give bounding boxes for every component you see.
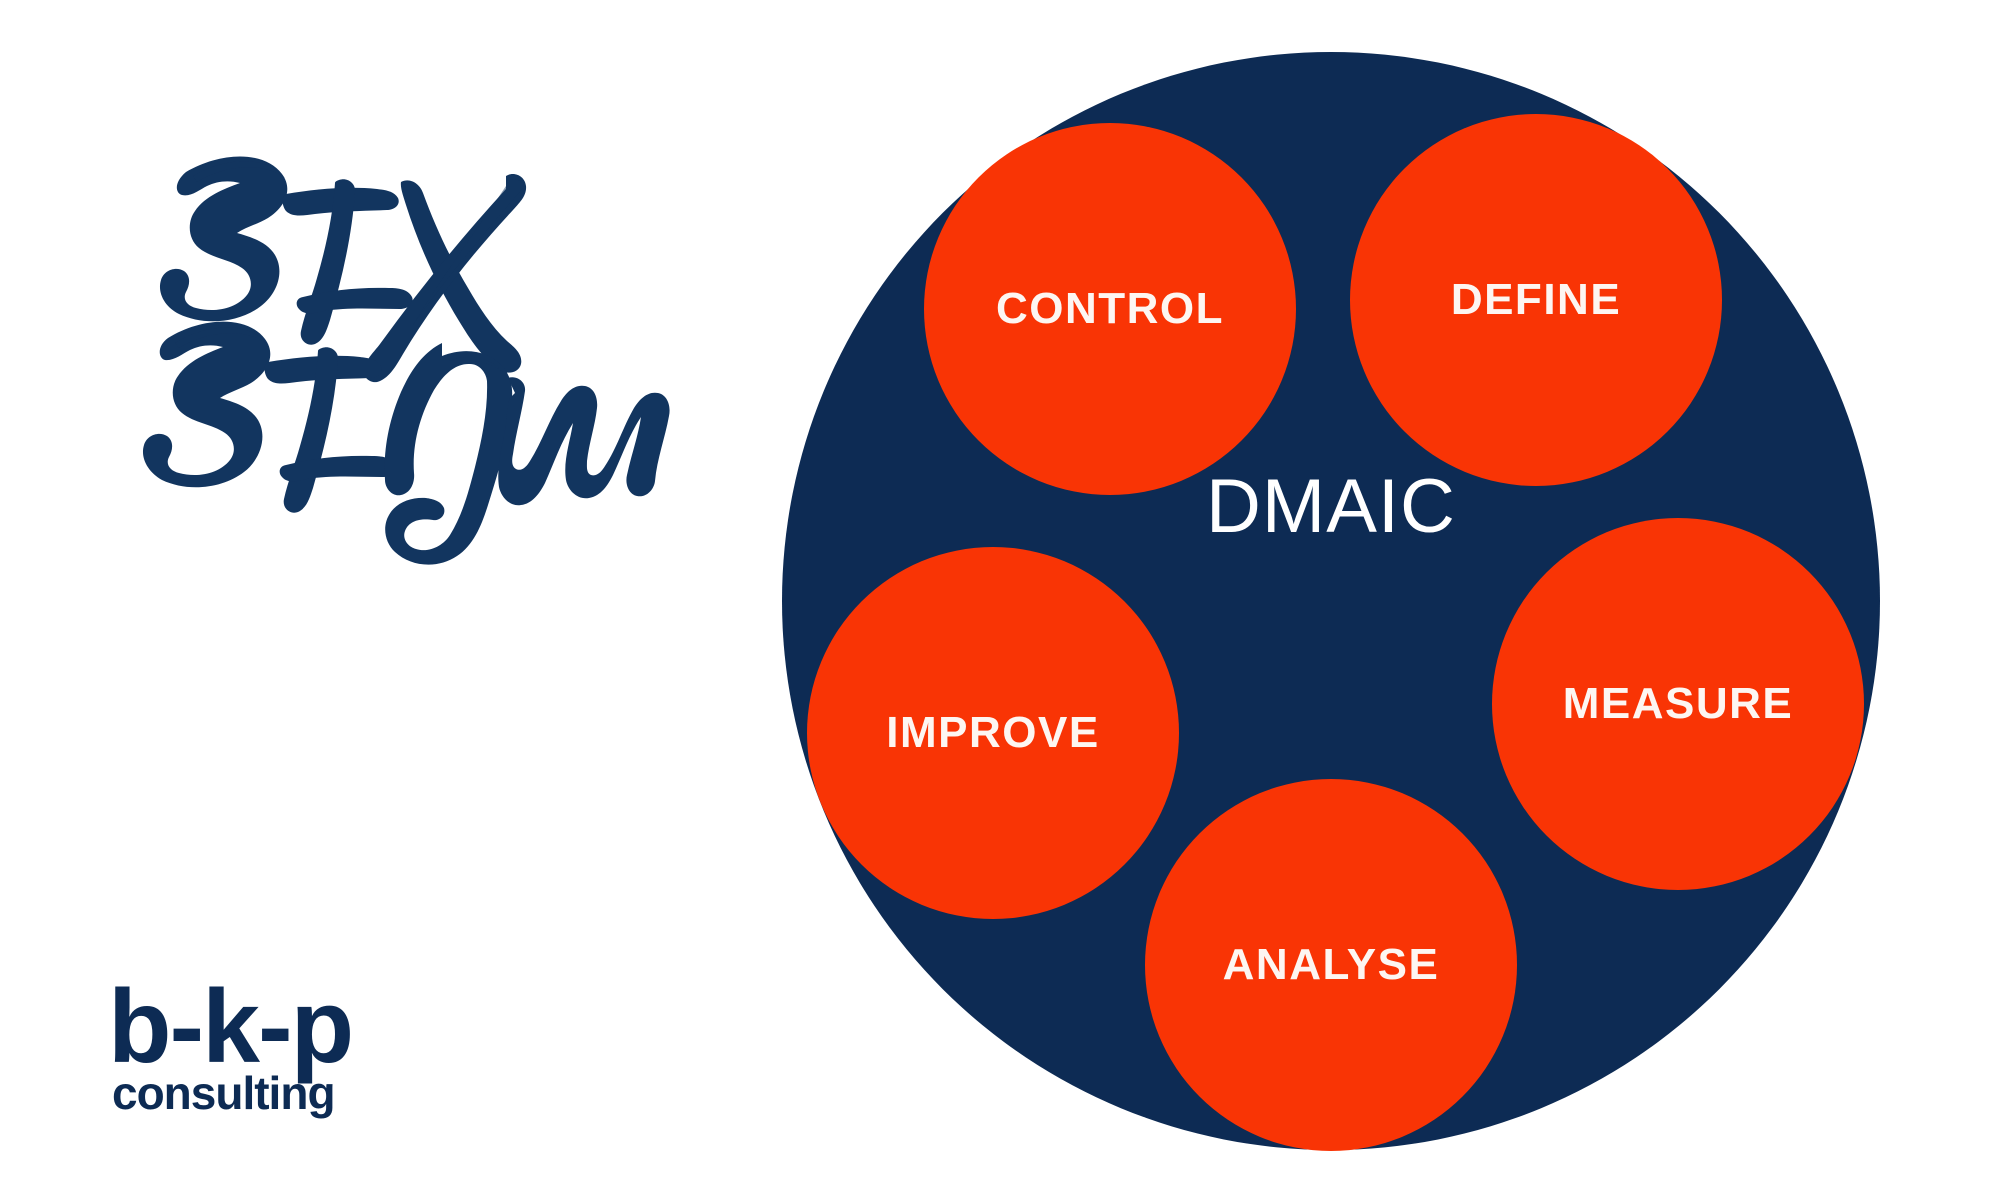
wordmark-strokes-line2 [143,322,670,565]
logo-wordmark: b-k-p [108,980,438,1076]
phase-label-control: CONTROL [996,284,1224,334]
phase-node-improve[interactable]: IMPROVE [807,547,1179,919]
phase-node-control[interactable]: CONTROL [924,123,1296,495]
phase-node-analyse[interactable]: ANALYSE [1145,779,1517,1151]
phase-label-analyse: ANALYSE [1223,940,1440,990]
bkp-consulting-logo: b-k-p consulting [108,980,438,1140]
wordmark-strokes [160,157,526,383]
phase-label-define: DEFINE [1451,275,1621,325]
phase-label-measure: MEASURE [1563,679,1794,729]
phase-node-define[interactable]: DEFINE [1350,114,1722,486]
six-sigma-wordmark [90,110,610,490]
slide-canvas: b-k-p consulting CONTROL DEFINE MEASURE … [0,0,2000,1200]
phase-node-measure[interactable]: MEASURE [1492,518,1864,890]
phase-label-improve: IMPROVE [886,708,1099,758]
dmaic-wheel: CONTROL DEFINE MEASURE ANALYSE IMPROVE D… [782,52,1880,1150]
logo-tagline: consulting [112,1066,335,1120]
